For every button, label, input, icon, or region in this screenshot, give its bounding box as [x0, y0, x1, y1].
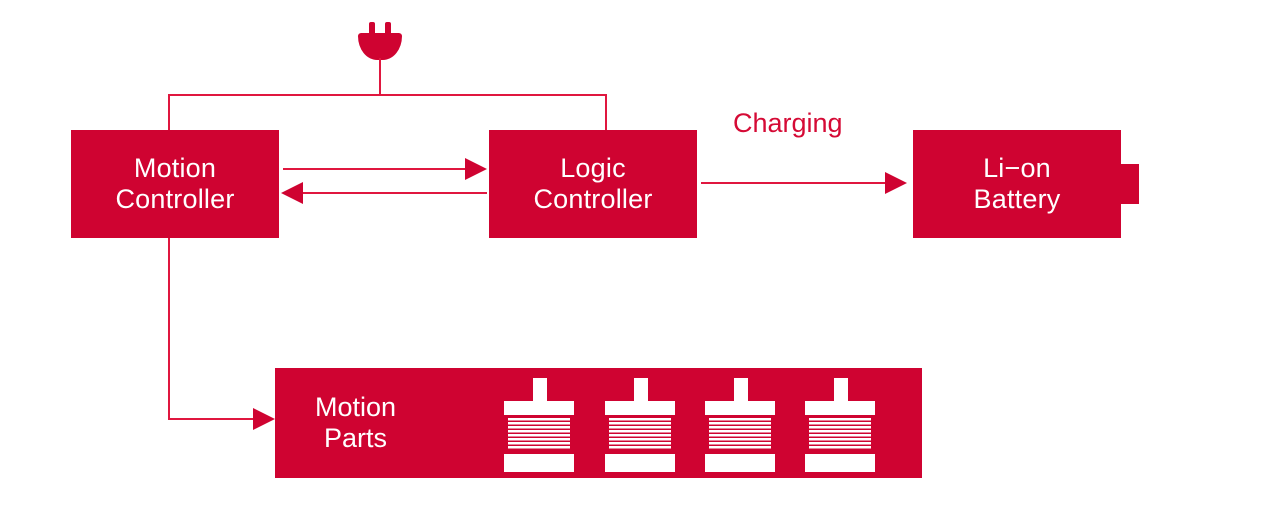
link-motion-to-parts-vertical [168, 238, 170, 420]
link-logic-to-battery-arrowhead [885, 172, 907, 194]
block-li-on-battery[interactable]: Li−on Battery [913, 130, 1121, 238]
motion-controller-line1: Motion [134, 153, 216, 184]
link-logic-to-motion-line [303, 192, 487, 194]
battery-line2: Battery [974, 184, 1061, 215]
block-logic-controller[interactable]: Logic Controller [489, 130, 697, 238]
plug-cord-line [379, 58, 381, 95]
block-motion-parts[interactable]: Motion Parts [275, 368, 922, 478]
stepper-motor-icon [705, 378, 775, 472]
link-motion-to-parts-arrowhead [253, 408, 275, 430]
stepper-motor-icon [605, 378, 675, 472]
stepper-motor-icon [805, 378, 875, 472]
motor-flange-top [504, 401, 574, 415]
link-logic-to-motion-arrowhead [281, 182, 303, 204]
link-motion-to-logic-arrowhead [465, 158, 487, 180]
plug-body [358, 33, 402, 60]
logic-controller-line1: Logic [560, 153, 626, 184]
motion-parts-line1: Motion [315, 392, 396, 423]
motion-parts-line2: Parts [324, 423, 387, 454]
motor-windings [609, 418, 671, 450]
motor-shaft [634, 378, 648, 401]
motion-controller-line2: Controller [115, 184, 234, 215]
diagram-canvas: Motion Controller Logic Controller Li−on… [0, 0, 1273, 520]
stepper-motor-icon [504, 378, 574, 472]
motion-parts-label: Motion Parts [315, 368, 396, 478]
power-plug-icon [358, 22, 402, 60]
block-motion-controller[interactable]: Motion Controller [71, 130, 279, 238]
motor-shaft [834, 378, 848, 401]
motor-windings [709, 418, 771, 450]
battery-line1: Li−on [983, 153, 1051, 184]
motor-shaft [734, 378, 748, 401]
motor-flange-bottom [805, 454, 875, 472]
motor-shaft [533, 378, 547, 401]
logic-controller-line2: Controller [533, 184, 652, 215]
motor-windings [809, 418, 871, 450]
motor-flange-bottom [705, 454, 775, 472]
link-motion-to-parts-horizontal [168, 418, 255, 420]
link-logic-to-battery-line [701, 182, 887, 184]
power-bus-line [168, 94, 607, 96]
motor-windings [508, 418, 570, 450]
power-drop-logic-controller [605, 94, 607, 131]
motor-flange-top [705, 401, 775, 415]
power-drop-motion-controller [168, 94, 170, 131]
battery-terminal-nub-icon [1121, 164, 1139, 204]
motor-flange-bottom [504, 454, 574, 472]
label-charging: Charging [733, 108, 843, 139]
motor-flange-bottom [605, 454, 675, 472]
link-motion-to-logic-line [283, 168, 467, 170]
motor-flange-top [605, 401, 675, 415]
motor-flange-top [805, 401, 875, 415]
